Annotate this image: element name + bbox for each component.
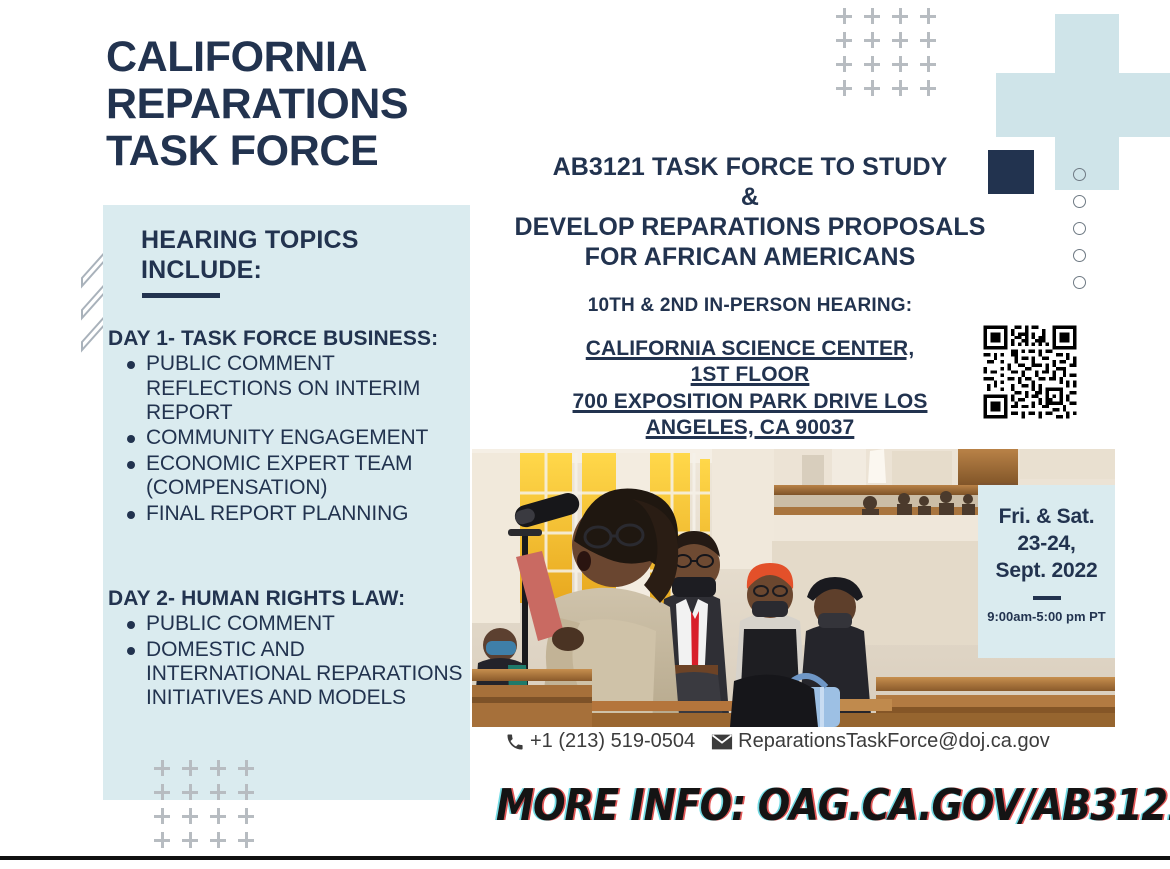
plus-icon (920, 8, 936, 24)
day-2-block: DAY 2- HUMAN RIGHTS LAW: PUBLIC COMMENT … (108, 587, 470, 712)
topics-heading: HEARING TOPICS INCLUDE: (141, 225, 441, 285)
day-1-title: DAY 1- TASK FORCE BUSINESS: (108, 327, 470, 351)
subtitle-line-4: FOR AFRICAN AMERICANS (470, 242, 1030, 272)
plus-icon (238, 832, 254, 848)
poster-canvas: CALIFORNIA REPARATIONS TASK FORCE HEARIN… (0, 0, 1170, 869)
hearing-topics-panel: HEARING TOPICS INCLUDE: DAY 1- TASK FORC… (103, 205, 470, 800)
hearing-label: 10TH & 2ND IN-PERSON HEARING: (470, 295, 1030, 317)
plus-icon (864, 8, 880, 24)
plus-icon (154, 808, 170, 824)
plus-icon (182, 808, 198, 824)
phone-number: +1 (213) 519-0504 (530, 730, 695, 753)
subtitle-line-2: & (470, 182, 1030, 212)
plus-icon (154, 832, 170, 848)
contact-row: +1 (213) 519-0504 ReparationsTaskForce@d… (505, 730, 1050, 753)
hearing-time: 9:00am-5:00 pm PT (978, 609, 1115, 625)
day-1-block: DAY 1- TASK FORCE BUSINESS: PUBLIC COMME… (108, 327, 470, 527)
plus-icon (864, 32, 880, 48)
venue-line-4: ANGELES, CA 90037 (470, 415, 1030, 441)
circle-icon (1073, 168, 1086, 181)
phone-icon (505, 732, 525, 752)
venue-address: CALIFORNIA SCIENCE CENTER, 1ST FLOOR 700… (470, 336, 1030, 442)
venue-line-3: 700 EXPOSITION PARK DRIVE LOS (470, 389, 1030, 415)
plus-icon (920, 32, 936, 48)
email-contact[interactable]: ReparationsTaskForce@doj.ca.gov (711, 730, 1050, 753)
email-address: ReparationsTaskForce@doj.ca.gov (738, 730, 1050, 753)
title-line-3: TASK FORCE (106, 128, 526, 175)
bottom-edge-rule (0, 856, 1170, 860)
more-info-banner[interactable]: MORE INFO: OAG.CA.GOV/AB3121 (496, 780, 1079, 831)
plus-icon (836, 8, 852, 24)
day-2-title: DAY 2- HUMAN RIGHTS LAW: (108, 587, 470, 611)
page-title: CALIFORNIA REPARATIONS TASK FORCE (106, 34, 526, 175)
circle-icon (1073, 222, 1086, 235)
list-item: DOMESTIC AND INTERNATIONAL REPARATIONS I… (108, 638, 470, 711)
circle-icon (1073, 249, 1086, 262)
cross-vertical-bar (1055, 14, 1119, 190)
day-1-topic-list: PUBLIC COMMENT REFLECTIONS ON INTERIM RE… (108, 352, 470, 526)
list-item: PUBLIC COMMENT (108, 612, 470, 636)
plus-icon (892, 80, 908, 96)
date-card: Fri. & Sat. 23-24, Sept. 2022 9:00am-5:0… (978, 485, 1115, 658)
plus-icon (210, 808, 226, 824)
plus-icon (182, 832, 198, 848)
plus-icon (920, 80, 936, 96)
circle-icon (1073, 195, 1086, 208)
subtitle-line-3: DEVELOP REPARATIONS PROPOSALS (470, 212, 1030, 242)
qr-code[interactable] (980, 322, 1080, 422)
venue-line-2: 1ST FLOOR (470, 362, 1030, 388)
plus-icon (892, 32, 908, 48)
date-divider (1033, 596, 1061, 600)
plus-icon (836, 80, 852, 96)
circle-icon (1073, 276, 1086, 289)
date-line-1: Fri. & Sat. (978, 504, 1115, 531)
list-item: PUBLIC COMMENT REFLECTIONS ON INTERIM RE… (108, 352, 470, 425)
subtitle: AB3121 TASK FORCE TO STUDY & DEVELOP REP… (470, 152, 1030, 272)
day-2-topic-list: PUBLIC COMMENT DOMESTIC AND INTERNATIONA… (108, 612, 470, 710)
subtitle-line-1: AB3121 TASK FORCE TO STUDY (470, 152, 1030, 182)
list-item: COMMUNITY ENGAGEMENT (108, 426, 470, 450)
plus-icon (210, 832, 226, 848)
plus-grid-decoration-top (836, 8, 948, 104)
circle-column-decoration (1073, 168, 1086, 303)
venue-line-1: CALIFORNIA SCIENCE CENTER, (470, 336, 1030, 362)
plus-icon (864, 56, 880, 72)
plus-icon (920, 56, 936, 72)
title-line-1: CALIFORNIA (106, 34, 526, 81)
title-line-2: REPARATIONS (106, 81, 526, 128)
plus-icon (864, 80, 880, 96)
topics-divider (142, 293, 220, 298)
date-line-3: Sept. 2022 (978, 558, 1115, 585)
cross-horizontal-bar (996, 73, 1170, 137)
plus-icon (892, 8, 908, 24)
plus-icon (238, 808, 254, 824)
plus-icon (836, 32, 852, 48)
list-item: FINAL REPORT PLANNING (108, 502, 470, 526)
plus-icon (836, 56, 852, 72)
phone-contact[interactable]: +1 (213) 519-0504 (505, 730, 695, 753)
list-item: ECONOMIC EXPERT TEAM (COMPENSATION) (108, 452, 470, 501)
envelope-icon (711, 733, 733, 751)
plus-icon (892, 56, 908, 72)
date-line-2: 23-24, (978, 531, 1115, 558)
